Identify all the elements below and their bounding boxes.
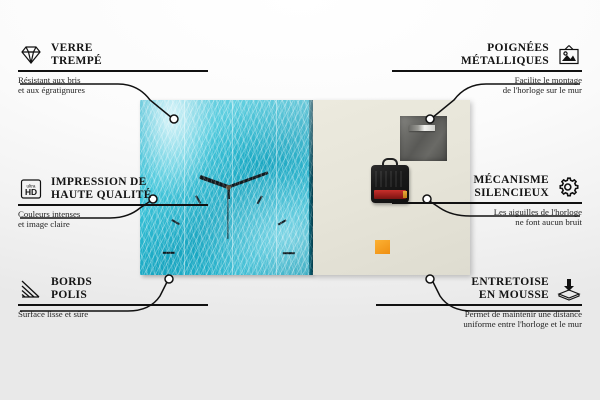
polished-edge-icon (18, 277, 44, 301)
callout-sub-line1: Couleurs intenses (18, 209, 208, 219)
callout-rule (18, 204, 208, 205)
callout-rule (392, 70, 582, 71)
clock-minute-hand (227, 171, 267, 188)
callout-sub-line2: et image claire (18, 219, 208, 229)
callout-title-line2: EN MOUSSE (471, 289, 549, 302)
clock-center-cap (226, 185, 231, 190)
callout-bords-polis: BORDS POLIS Surface lisse et sûre (18, 276, 208, 319)
callout-sub-line1: Facilite le montage (392, 75, 582, 85)
callout-sub-line1: Résistant aux bris (18, 75, 208, 85)
diamond-icon (18, 43, 44, 67)
callout-rule (392, 202, 582, 203)
callout-verre-trempe: VERRE TREMPÉ Résistant aux bris et aux é… (18, 42, 208, 95)
callout-sub-line2: ne font aucun bruit (392, 217, 582, 227)
callout-sub-line2: et aux égratignures (18, 85, 208, 95)
picture-hanger-icon (556, 43, 582, 67)
foam-spacer-icon (556, 277, 582, 301)
callout-rule (376, 304, 582, 305)
callout-title-line2: HAUTE QUALITÉ (51, 189, 152, 202)
callout-title-line1: ENTRETOISE (471, 276, 549, 289)
callout-rule (18, 70, 208, 71)
callout-impression-haute-qualite: ultra HD IMPRESSION DE HAUTE QUALITÉ Cou… (18, 176, 208, 229)
ultra-hd-icon: ultra HD (18, 177, 44, 201)
callout-title-line1: MÉCANISME (473, 174, 549, 187)
metal-hanger-plate (400, 116, 447, 161)
callout-title-line2: SILENCIEUX (473, 187, 549, 200)
gear-icon (556, 175, 582, 199)
callout-sub-line1: Permet de maintenir une distance (376, 309, 582, 319)
callout-poignees-metalliques: POIGNÉES MÉTALLIQUES Facilite le montage… (392, 42, 582, 95)
callout-title-line1: IMPRESSION DE (51, 176, 152, 189)
callout-sub-line2: de l'horloge sur le mur (392, 85, 582, 95)
callout-mecanisme-silencieux: MÉCANISME SILENCIEUX Les aiguilles de l'… (392, 174, 582, 227)
foam-spacer-piece (375, 240, 390, 254)
callout-title-line1: BORDS (51, 276, 92, 289)
callout-title-line2: MÉTALLIQUES (461, 55, 549, 68)
clock-second-hand (227, 187, 228, 239)
callout-rule (18, 304, 208, 305)
callout-title-line2: TREMPÉ (51, 55, 102, 68)
callout-sub-line2: uniforme entre l'horloge et le mur (376, 319, 582, 329)
callout-title-line2: POLIS (51, 289, 92, 302)
svg-text:HD: HD (25, 187, 37, 197)
callout-sub-line1: Surface lisse et sûre (18, 309, 208, 319)
callout-entretoise-en-mousse: ENTRETOISE EN MOUSSE Permet de maintenir… (376, 276, 582, 329)
callout-title-line1: VERRE (51, 42, 102, 55)
callout-title-line1: POIGNÉES (461, 42, 549, 55)
callout-sub-line1: Les aiguilles de l'horloge (392, 207, 582, 217)
